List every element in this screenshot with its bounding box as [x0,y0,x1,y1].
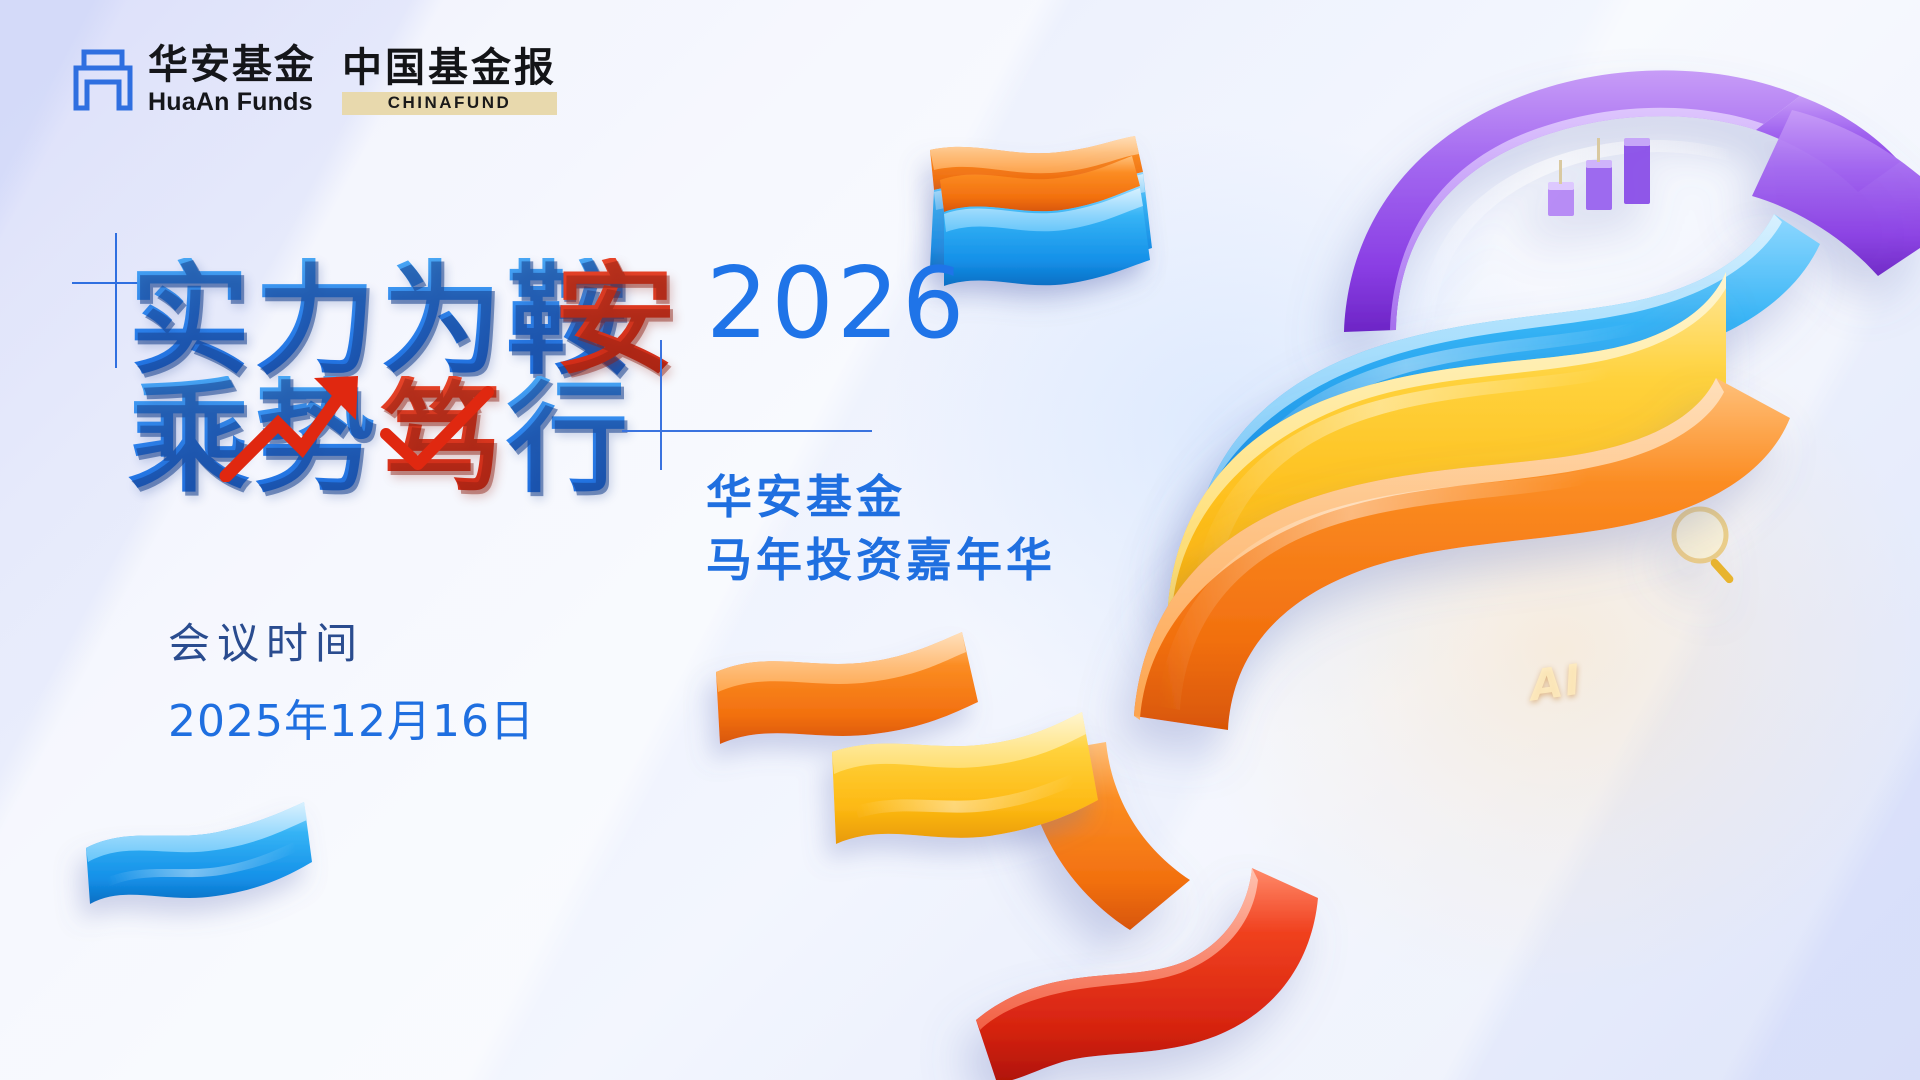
headline-char: 实 [128,258,254,382]
year-label: 2026 [706,255,967,353]
background-warm-glow [1180,300,1920,1000]
purple-glass-ribbon [1344,70,1920,332]
headline-char: 笃 [380,376,506,500]
chinafund-chinese-name: 中国基金报 [342,48,557,88]
headline-char: 行 [506,376,632,500]
red-glass-ribbon [976,868,1318,1080]
huaan-funds-mark-icon [72,49,134,111]
headline-char: 为 [380,258,506,382]
headline-char: 势 [254,376,380,500]
water-drop-icon [1404,434,1444,502]
small-orange-ribbon [716,632,1098,844]
meeting-date-value: 2025年12月16日 [168,685,535,749]
headline-line-1: 实 力 为 鞍 安 [128,258,680,382]
poster-canvas: AI 华安基金 HuaAn Funds 中国基金报 CHINAFUND [0,0,1920,1080]
meeting-info-block: 会议时间 2025年12月16日 [168,610,535,749]
logo-bar: 华安基金 HuaAn Funds 中国基金报 CHINAFUND [72,45,557,115]
huaan-funds-logo: 华安基金 HuaAn Funds [72,45,316,115]
crosshair-vertical-line [115,233,117,368]
chinafund-logo: 中国基金报 CHINAFUND [342,48,557,115]
background-cool-glow [880,120,1580,740]
chinafund-badge: CHINAFUND [342,92,557,115]
blue-glass-ribbon [1186,214,1820,580]
subtitle-line-2: 马年投资嘉年华 [706,529,1056,592]
orange-glass-ribbon-tail [1024,742,1190,930]
magnifier-icon [1674,509,1735,585]
subtitle-line-1: 华安基金 [706,466,1056,529]
huaan-chinese-name: 华安基金 [148,45,316,85]
ai-badge-label: AI [1527,655,1585,711]
meeting-time-label: 会议时间 [168,610,535,671]
bar-chart-icon [1548,138,1650,216]
small-blue-ribbon-top [940,156,1150,286]
crosshair-horizontal-line [622,430,872,432]
headline-block: 实 力 为 鞍 安 乘 势 笃 行 [128,258,680,501]
huaan-english-name: HuaAn Funds [148,90,316,115]
headline-char: 力 [254,258,380,382]
subtitle-block: 华安基金 马年投资嘉年华 [706,466,1056,593]
chinafund-english-name: CHINAFUND [388,93,512,113]
orange-glass-ribbon [1134,378,1790,730]
small-blue-ribbon-bottom [86,802,312,904]
headline-char: 乘 [128,376,254,500]
headline-line-2: 乘 势 笃 行 [128,376,680,500]
crosshair-vertical-line [660,340,662,470]
huaan-funds-wordmark: 华安基金 HuaAn Funds [148,45,316,115]
yellow-glass-ribbon [1168,272,1735,652]
